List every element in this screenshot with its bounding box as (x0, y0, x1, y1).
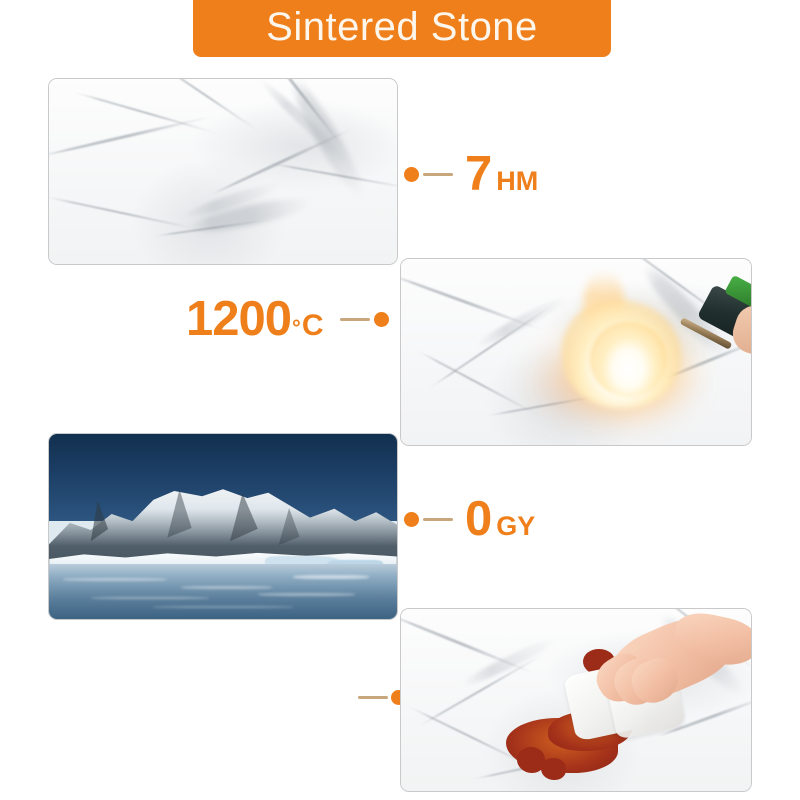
flame-test-image (401, 259, 751, 445)
hardness-metric: 7 HM (465, 150, 538, 199)
callout-dot-icon (404, 512, 419, 527)
glacier-image (49, 434, 397, 619)
callout-stain-resistance (358, 690, 406, 705)
callout-leader-line (423, 173, 453, 176)
heat-unit: C (302, 311, 324, 341)
callout-radiation: 0 GY (404, 495, 535, 544)
marble-texture-image (49, 79, 397, 264)
title-banner: Sintered Stone (193, 0, 611, 57)
degree-symbol: ° (292, 317, 301, 339)
panel-blowtorch-heat-test (400, 258, 752, 446)
panel-snow-mountain-glacier (48, 433, 398, 620)
hardness-value: 7 (465, 150, 491, 199)
callout-leader-line (358, 696, 388, 699)
callout-leader-line (423, 518, 453, 521)
callout-dot-icon (374, 312, 389, 327)
panel-stain-wipe-test (400, 608, 752, 792)
hardness-unit: HM (496, 168, 538, 195)
callout-heat-resistance: 1200 ° C (186, 295, 389, 344)
panel-white-marble-slab (48, 78, 398, 265)
callout-hardness: 7 HM (404, 150, 538, 199)
stain-test-image (401, 609, 751, 791)
heat-value: 1200 (186, 295, 291, 344)
radiation-value: 0 (465, 495, 491, 544)
page-title: Sintered Stone (266, 7, 538, 53)
callout-leader-line (340, 318, 370, 321)
callout-dot-icon (404, 167, 419, 182)
radiation-metric: 0 GY (465, 495, 535, 544)
heat-metric: 1200 ° C (186, 295, 324, 344)
radiation-unit: GY (496, 513, 535, 540)
